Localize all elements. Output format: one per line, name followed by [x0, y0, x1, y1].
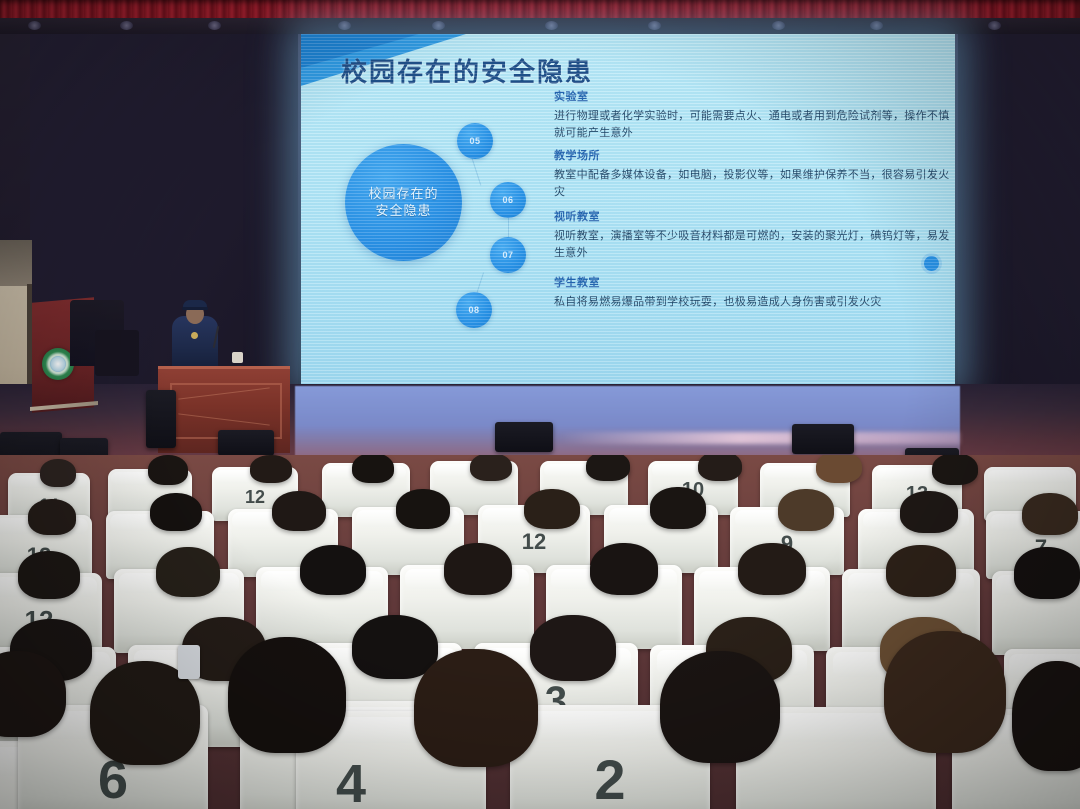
- slide-badge-icon: [924, 256, 939, 271]
- slide-block-lab: 实验室 进行物理或者化学实验时，可能需要点火、通电或者用到危险试剂等，操作不慎就…: [554, 88, 954, 141]
- phone-icon: [178, 645, 200, 679]
- audience-head: [650, 487, 706, 529]
- audience-head: [18, 551, 80, 599]
- audience-head: [778, 489, 834, 531]
- left-wall-upper: [0, 240, 32, 290]
- ceiling-light: [870, 21, 883, 30]
- stage-monitor: [495, 422, 553, 452]
- school-emblem-inner-icon: [50, 356, 66, 372]
- presenter-badge-icon: [191, 332, 198, 339]
- audience-area: 14 12 10 13: [0, 455, 1080, 809]
- audience-head: [530, 615, 616, 681]
- audience-head: [352, 615, 438, 679]
- audience-head: [1022, 493, 1078, 535]
- audience-head: [250, 455, 292, 483]
- audience-head: [524, 489, 580, 529]
- audience-head: [228, 637, 346, 753]
- wall-right-panel: [956, 34, 1080, 434]
- seat-number: 2: [510, 747, 710, 809]
- presenter-cap-brim: [182, 307, 208, 310]
- audience-head: [300, 545, 366, 595]
- audience-head: [470, 455, 512, 481]
- presenter-body: [172, 316, 218, 370]
- seat-cover-top: [988, 470, 1073, 483]
- slide-center-circle-label: 校园存在的安全隐患: [365, 186, 443, 220]
- cup-icon: [232, 352, 243, 363]
- audience-head: [900, 491, 958, 533]
- audience-head: [738, 543, 806, 595]
- stage-speaker: [146, 390, 176, 448]
- audience-head: [148, 455, 188, 485]
- ceiling-light: [772, 21, 785, 30]
- audience-head: [150, 493, 202, 531]
- audience-head: [156, 547, 220, 597]
- slide-center-circle: 校园存在的安全隐患: [345, 144, 462, 261]
- slide-block-heading: 视听教室: [554, 208, 954, 224]
- audience-head: [932, 455, 978, 485]
- slide-title: 校园存在的安全隐患: [341, 52, 593, 89]
- slide-block-body: 视听教室，演播室等不少吸音材料都是可燃的，安装的聚光灯，碘钨灯等，易发生意外: [554, 227, 954, 261]
- slide-node-05: 05: [457, 123, 493, 159]
- audience-head: [884, 631, 1006, 753]
- ceiling-light: [648, 21, 661, 30]
- projection-screen: 校园存在的安全隐患 校园存在的安全隐患 05 06 07 08 实验室 进行物理…: [301, 34, 955, 384]
- slide-block-av-room: 视听教室 视听教室，演播室等不少吸音材料都是可燃的，安装的聚光灯，碘钨灯等，易发…: [554, 208, 954, 261]
- slide-node-06: 06: [490, 182, 526, 218]
- connector-05-06: [472, 159, 482, 186]
- audience-head: [272, 491, 326, 531]
- audience-head: [396, 489, 450, 529]
- slide-block-classroom-venue: 教学场所 教室中配备多媒体设备，如电脑，投影仪等，如果维护保养不当，很容易引发火…: [554, 147, 954, 200]
- wall-seam-right: [955, 34, 958, 434]
- ceiling-light: [208, 21, 221, 30]
- slide-block-student-classroom: 学生教室 私自将易燃易爆品带到学校玩耍，也极易造成人身伤害或引发火灾: [554, 274, 954, 310]
- slide-block-heading: 教学场所: [554, 147, 954, 163]
- ceiling-lights: [0, 18, 1080, 34]
- audience-head: [816, 455, 862, 483]
- stage-monitor: [218, 430, 274, 456]
- audience-head: [586, 455, 630, 481]
- audience-head: [590, 543, 658, 595]
- audience-head: [352, 455, 394, 483]
- audience-head: [698, 455, 742, 481]
- stage-chair: [95, 330, 139, 376]
- audience-head: [1014, 547, 1080, 599]
- slide-node-08: 08: [456, 292, 492, 328]
- slide-block-heading: 学生教室: [554, 274, 954, 290]
- auditorium-photo: 校园存在的安全隐患 校园存在的安全隐患 05 06 07 08 实验室 进行物理…: [0, 0, 1080, 809]
- audience-head: [660, 651, 780, 763]
- slide-node-07: 07: [490, 237, 526, 273]
- stage-monitor: [792, 424, 854, 454]
- audience-head: [886, 545, 956, 597]
- ceiling-light: [120, 21, 133, 30]
- audience-head: [28, 499, 76, 535]
- ceiling-light: [338, 21, 351, 30]
- slide-block-heading: 实验室: [554, 88, 954, 104]
- stage-light-streak: [560, 432, 960, 444]
- ceiling-light: [545, 21, 558, 30]
- audience-head: [40, 459, 76, 487]
- slide-block-body: 教室中配备多媒体设备，如电脑，投影仪等，如果维护保养不当，很容易引发火灾: [554, 166, 954, 200]
- ceiling-light: [28, 21, 41, 30]
- audience-head: [1012, 661, 1080, 771]
- audience-head: [414, 649, 538, 767]
- audience-head: [444, 543, 512, 595]
- slide-block-body: 进行物理或者化学实验时，可能需要点火、通电或者用到危险试剂等，操作不慎就可能产生…: [554, 107, 954, 141]
- ceiling-light: [988, 21, 1001, 30]
- ceiling-light: [432, 21, 445, 30]
- slide-block-body: 私自将易燃易爆品带到学校玩耍，也极易造成人身伤害或引发火灾: [554, 293, 954, 310]
